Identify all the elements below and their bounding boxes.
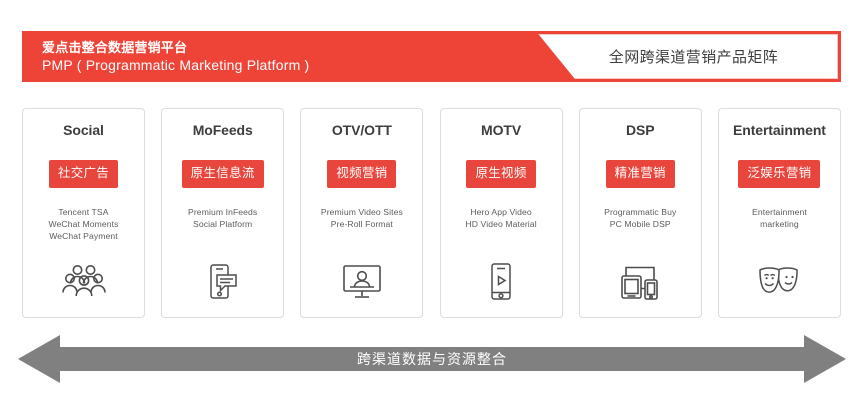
card-badge: 原生信息流 (182, 160, 264, 188)
banner-title-block: 爱点击整合数据营销平台 PMP ( Programmatic Marketing… (42, 31, 309, 82)
product-card-entertainment[interactable]: Entertainment 泛娱乐营销 Entertainment market… (718, 108, 841, 318)
header-banner: 爱点击整合数据营销平台 PMP ( Programmatic Marketing… (22, 31, 841, 82)
card-description: Hero App Video HD Video Material (465, 206, 536, 230)
theater-masks-icon (719, 259, 840, 305)
banner-right-label: 全网跨渠道营销产品矩阵 (505, 34, 838, 79)
card-description: Tencent TSA WeChat Moments WeChat Paymen… (48, 206, 118, 242)
product-card-social[interactable]: Social 社交广告 Tencent TSA WeChat Moments W… (22, 108, 145, 318)
card-badge: 原生视频 (466, 160, 535, 188)
people-group-icon (23, 259, 144, 305)
product-card-otv-ott[interactable]: OTV/OTT 视频营销 Premium Video Sites Pre-Rol… (300, 108, 423, 318)
card-title: DSP (626, 122, 655, 138)
integration-arrow-label: 跨渠道数据与资源整合 (18, 333, 846, 385)
phone-feed-icon (162, 259, 283, 305)
banner-title-cn: 爱点击整合数据营销平台 (42, 39, 309, 56)
product-card-dsp[interactable]: DSP 精准营销 Programmatic Buy PC Mobile DSP (579, 108, 702, 318)
card-badge: 视频营销 (327, 160, 396, 188)
card-description: Premium InFeeds Social Platform (188, 206, 257, 230)
card-badge: 社交广告 (49, 160, 118, 188)
card-description: Entertainment marketing (752, 206, 807, 230)
integration-arrow: 跨渠道数据与资源整合 (18, 333, 846, 385)
card-title: Social (63, 122, 104, 138)
banner-title-en: PMP ( Programmatic Marketing Platform ) (42, 56, 309, 75)
product-card-row: Social 社交广告 Tencent TSA WeChat Moments W… (22, 108, 841, 318)
card-title: MOTV (481, 122, 521, 138)
multi-device-icon (580, 259, 701, 305)
card-title: MoFeeds (193, 122, 253, 138)
product-card-motv[interactable]: MOTV 原生视频 Hero App Video HD Video Materi… (440, 108, 563, 318)
card-title: Entertainment (733, 122, 826, 138)
card-description: Programmatic Buy PC Mobile DSP (604, 206, 676, 230)
monitor-video-icon (301, 259, 422, 305)
card-title: OTV/OTT (332, 122, 392, 138)
card-badge: 精准营销 (606, 160, 675, 188)
product-card-mofeeds[interactable]: MoFeeds 原生信息流 Premium InFeeds Social Pla… (161, 108, 284, 318)
card-badge: 泛娱乐营销 (738, 160, 820, 188)
card-description: Premium Video Sites Pre-Roll Format (321, 206, 403, 230)
phone-play-icon (441, 259, 562, 305)
